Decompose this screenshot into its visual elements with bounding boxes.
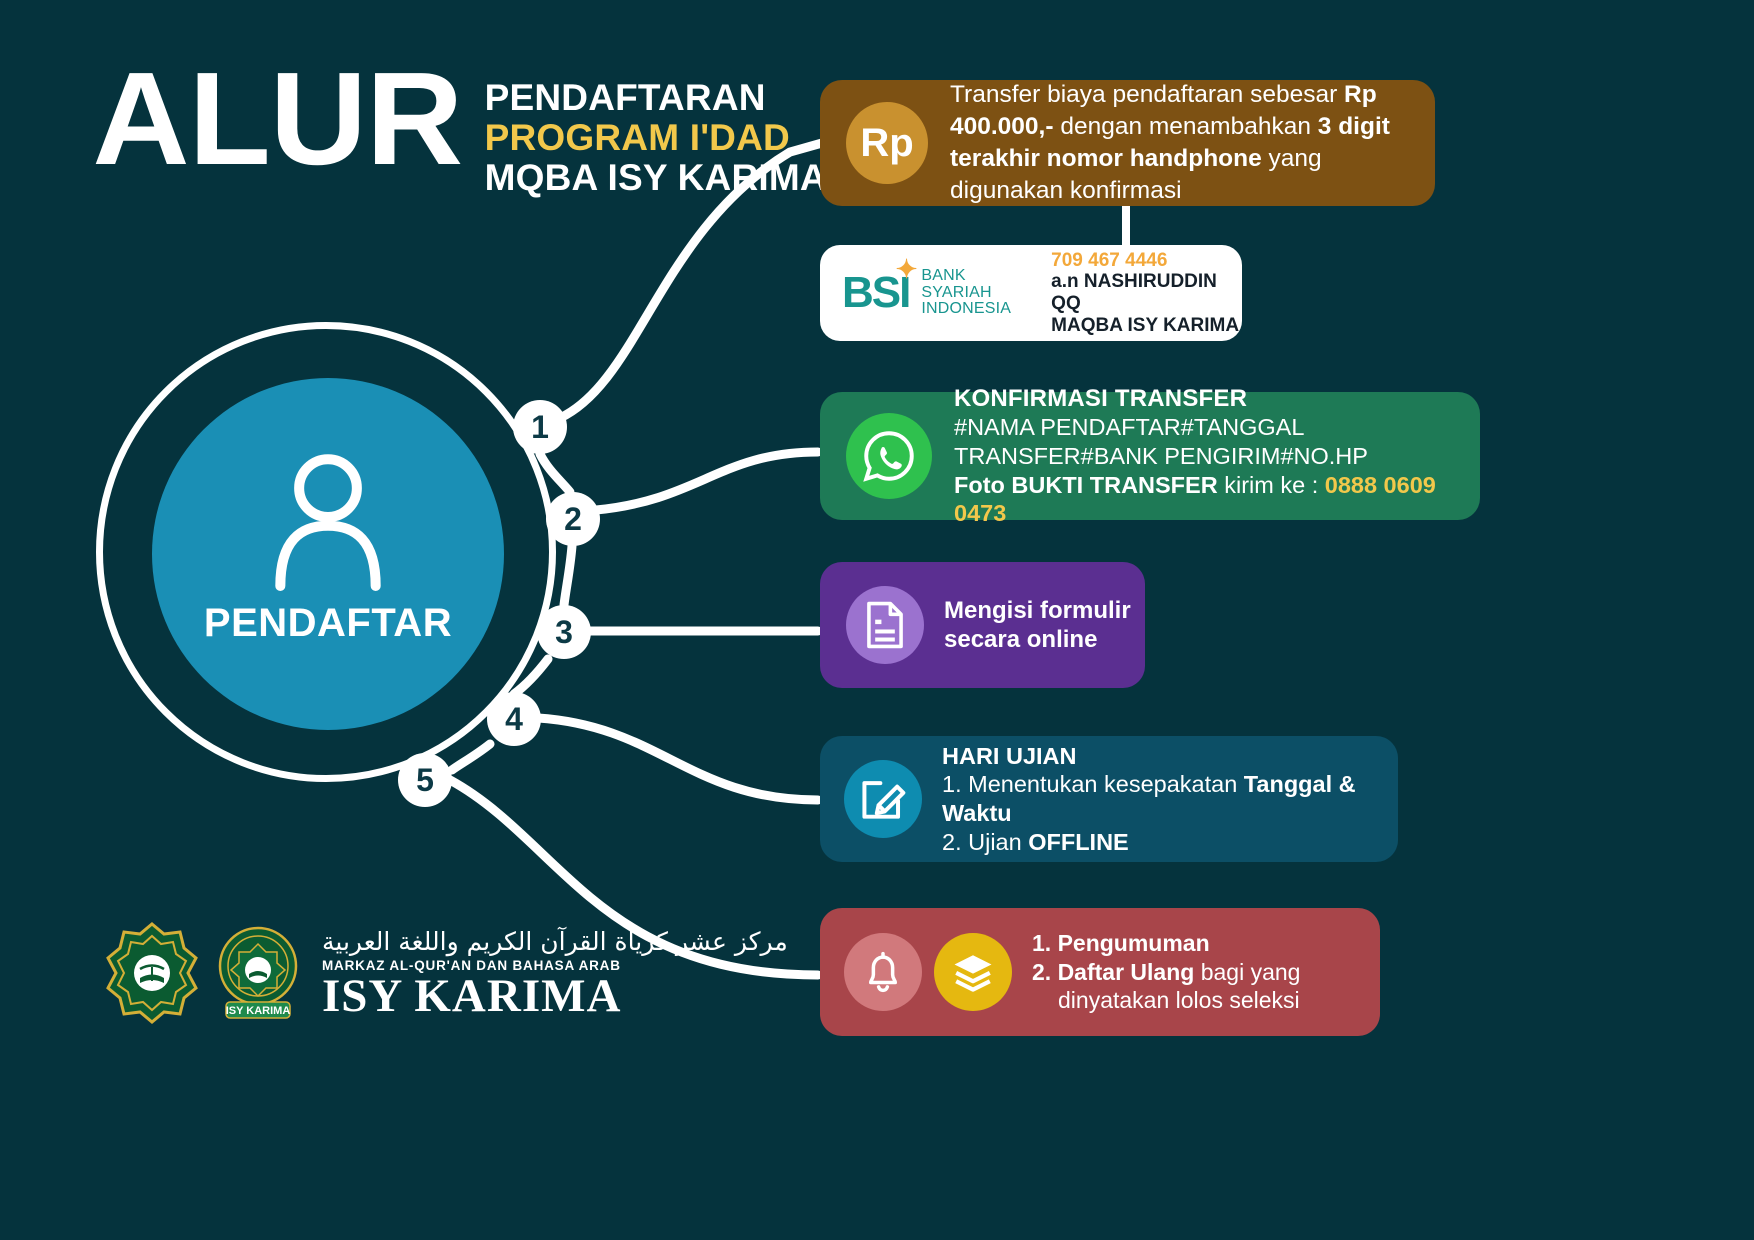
exam-item-2-bold: OFFLINE <box>1028 829 1129 855</box>
announcement-line-2: 2. Daftar Ulang bagi yang <box>1032 958 1300 987</box>
account-name-line-2: MAQBA ISY KARIMA <box>1051 315 1242 337</box>
edit-glyph <box>860 776 906 822</box>
card-exam-text: HARI UJIAN 1. Menentukan kesepakatan Tan… <box>942 742 1398 857</box>
emblem-1-glyph <box>104 920 200 1026</box>
rupiah-icon: Rp <box>846 102 928 184</box>
bell-glyph <box>862 949 904 995</box>
person-icon <box>265 453 391 591</box>
layers-glyph <box>951 951 995 993</box>
card-transfer: Rp Transfer biaya pendaftaran sebesar Rp… <box>820 80 1435 206</box>
whatsapp-icon <box>846 413 932 499</box>
announcement-item-2-rest: bagi yang <box>1194 959 1300 985</box>
card-announcement: 1. Pengumuman 2. Daftar Ulang bagi yang … <box>820 908 1380 1036</box>
footer-branding: ISY KARIMA مركز عشر كرياة القرآن الكريم … <box>104 920 788 1026</box>
form-line-2: secara online <box>944 625 1131 654</box>
star-icon: ✦ <box>896 254 916 285</box>
announcement-line-1: 1. Pengumuman <box>1032 929 1300 958</box>
brand-text: مركز عشر كرياة القرآن الكريم واللغة العر… <box>322 927 788 1020</box>
bsi-sub-line-1: BANK SYARIAH <box>921 268 1031 302</box>
document-glyph <box>863 600 907 650</box>
pendaftar-label: PENDAFTAR <box>204 601 452 646</box>
step-node-2[interactable]: 2 <box>546 492 600 546</box>
rupiah-icon-label: Rp <box>860 121 913 166</box>
emblem-logo-1 <box>104 920 200 1026</box>
exam-title: HARI UJIAN <box>942 742 1398 771</box>
exam-item-2-prefix: 2. Ujian <box>942 829 1028 855</box>
card-whatsapp-confirmation: KONFIRMASI TRANSFER #NAMA PENDAFTAR#TANG… <box>820 392 1480 520</box>
exam-item-1-prefix: 1. Menentukan kesepakatan <box>942 771 1244 797</box>
edit-icon <box>844 760 922 838</box>
title-line-3: MQBA ISY KARIMA <box>485 158 827 198</box>
bsi-sub-line-2: INDONESIA <box>921 301 1031 318</box>
bank-account-details: 709 467 4446 a.n NASHIRUDDIN QQ MAQBA IS… <box>1051 250 1242 337</box>
bsi-logo: BSI ✦ BANK SYARIAH INDONESIA <box>842 268 1031 318</box>
layers-icon <box>934 933 1012 1011</box>
whatsapp-send-line: Foto BUKTI TRANSFER kirim ke : 0888 0609… <box>954 471 1454 528</box>
brand-name: ISY KARIMA <box>322 973 788 1020</box>
infographic-canvas: ALUR PENDAFTARAN PROGRAM I'DAD MQBA ISY … <box>0 0 1754 1240</box>
svg-text:ISY KARIMA: ISY KARIMA <box>226 1005 291 1017</box>
exam-item-1: 1. Menentukan kesepakatan Tanggal & Wakt… <box>942 770 1398 827</box>
card-transfer-text: Transfer biaya pendaftaran sebesar Rp 40… <box>950 79 1420 206</box>
exam-item-2: 2. Ujian OFFLINE <box>942 828 1398 857</box>
emblem-2-glyph: ISY KARIMA <box>210 920 306 1026</box>
whatsapp-kirim-label: kirim ke : <box>1218 472 1325 498</box>
title-line-2: PROGRAM I'DAD <box>485 118 827 158</box>
transfer-text-1: Transfer biaya pendaftaran sebesar <box>950 81 1344 108</box>
card-announcement-text: 1. Pengumuman 2. Daftar Ulang bagi yang … <box>1032 929 1300 1015</box>
page-title: ALUR PENDAFTARAN PROGRAM I'DAD MQBA ISY … <box>96 58 827 198</box>
account-number: 709 467 4446 <box>1051 250 1242 272</box>
step-node-3[interactable]: 3 <box>537 605 591 659</box>
card-whatsapp-text: KONFIRMASI TRANSFER #NAMA PENDAFTAR#TANG… <box>954 384 1454 528</box>
step-node-4[interactable]: 4 <box>487 692 541 746</box>
card-form-text: Mengisi formulir secara online <box>944 596 1131 655</box>
title-line-1: PENDAFTARAN <box>485 78 827 118</box>
form-line-1: Mengisi formulir <box>944 596 1131 625</box>
card-bank-account: BSI ✦ BANK SYARIAH INDONESIA 709 467 444… <box>820 245 1242 341</box>
announcement-item-2-bold: 2. Daftar Ulang <box>1032 959 1194 985</box>
card-exam-day: HARI UJIAN 1. Menentukan kesepakatan Tan… <box>820 736 1398 862</box>
bsi-logo-subtitle: BANK SYARIAH INDONESIA <box>921 268 1031 318</box>
whatsapp-foto-label: Foto BUKTI TRANSFER <box>954 472 1218 498</box>
bsi-logo-mark: BSI ✦ <box>842 268 909 318</box>
step-node-1[interactable]: 1 <box>513 400 567 454</box>
connector-2 <box>596 452 818 510</box>
title-alur: ALUR <box>92 58 462 179</box>
title-subtitles: PENDAFTARAN PROGRAM I'DAD MQBA ISY KARIM… <box>485 78 827 198</box>
announcement-line-3: dinyatakan lolos seleksi <box>1032 986 1300 1015</box>
whatsapp-title: KONFIRMASI TRANSFER <box>954 384 1454 413</box>
chain-4-5 <box>452 744 490 770</box>
pendaftar-circle: PENDAFTAR <box>152 378 504 730</box>
brand-arabic: مركز عشر كرياة القرآن الكريم واللغة العر… <box>322 927 788 956</box>
card-online-form: Mengisi formulir secara online <box>820 562 1145 688</box>
document-icon <box>846 586 924 664</box>
whatsapp-glyph <box>861 428 917 484</box>
transfer-text-2: dengan menambahkan <box>1054 113 1318 140</box>
chain-2-3 <box>564 546 572 605</box>
emblem-logo-2: ISY KARIMA <box>210 920 306 1026</box>
bell-icon <box>844 933 922 1011</box>
whatsapp-body: #NAMA PENDAFTAR#TANGGAL TRANSFER#BANK PE… <box>954 413 1454 470</box>
step-node-5[interactable]: 5 <box>398 753 452 807</box>
announcement-item-1: 1. Pengumuman <box>1032 930 1210 956</box>
connector-4 <box>538 718 818 800</box>
account-name-line-1: a.n NASHIRUDDIN QQ <box>1051 271 1242 314</box>
